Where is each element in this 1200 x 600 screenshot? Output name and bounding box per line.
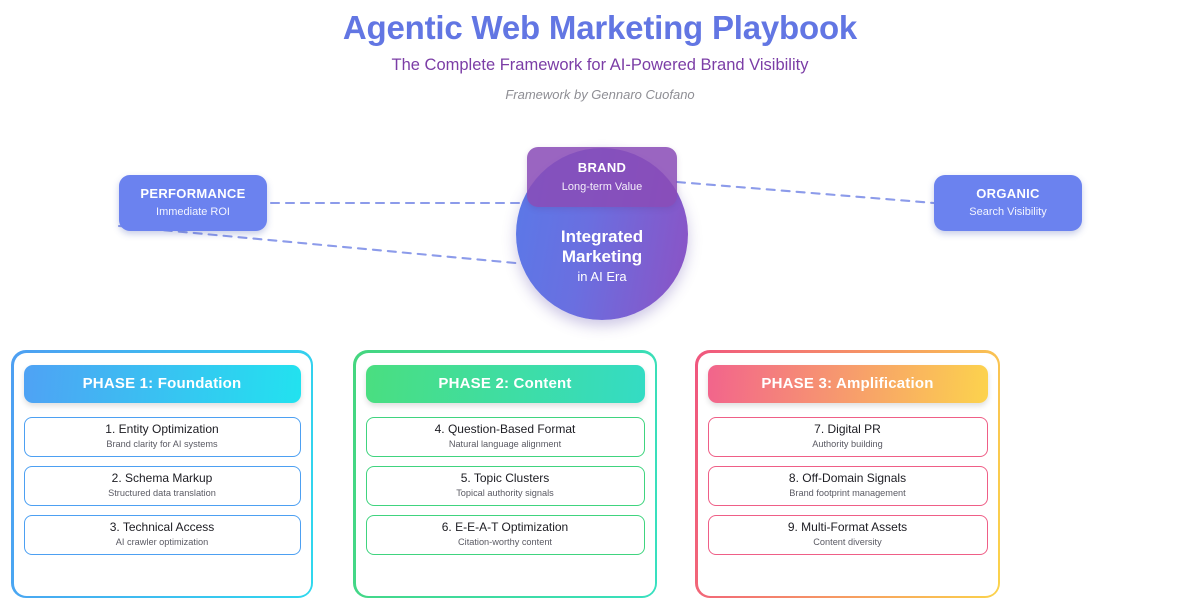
phase-2-item-3-subtitle: Citation-worthy content (458, 535, 552, 549)
page-header: Agentic Web Marketing Playbook The Compl… (0, 0, 1200, 103)
phase-2-item-1-title: 4. Question-Based Format (435, 422, 576, 437)
phase-3-item-3-title: 9. Multi-Format Assets (788, 520, 907, 535)
phase-3-item-3[interactable]: 9. Multi-Format Assets Content diversity (708, 515, 988, 555)
integrated-marketing-subtitle: in AI Era (577, 267, 626, 286)
phase-1-item-2-subtitle: Structured data translation (108, 486, 216, 500)
phase-3-item-2-title: 8. Off-Domain Signals (789, 471, 906, 486)
phase-2-item-1-subtitle: Natural language alignment (449, 437, 561, 451)
node-organic-title: ORGANIC (976, 186, 1040, 202)
phase-2-header: PHASE 2: Content (366, 365, 645, 403)
phase-1-header: PHASE 1: Foundation (24, 365, 301, 403)
phase-1-item-2[interactable]: 2. Schema Markup Structured data transla… (24, 466, 301, 506)
node-organic-subtitle: Search Visibility (969, 202, 1046, 219)
page-byline: Framework by Gennaro Cuofano (0, 75, 1200, 103)
phase-1-item-1[interactable]: 1. Entity Optimization Brand clarity for… (24, 417, 301, 457)
page-title: Agentic Web Marketing Playbook (0, 0, 1200, 48)
phase-2-item-3[interactable]: 6. E-E-A-T Optimization Citation-worthy … (366, 515, 645, 555)
phase-column-1: PHASE 1: Foundation 1. Entity Optimizati… (11, 350, 313, 598)
node-brand-title: BRAND (578, 160, 626, 176)
phase-1-item-3-subtitle: AI crawler optimization (116, 535, 208, 549)
connector-performance-circle (119, 226, 526, 264)
phase-3-item-1[interactable]: 7. Digital PR Authority building (708, 417, 988, 457)
phase-1-item-1-title: 1. Entity Optimization (105, 422, 218, 437)
phase-3-item-1-subtitle: Authority building (812, 437, 882, 451)
node-brand[interactable]: BRAND Long-term Value (527, 147, 677, 207)
phase-2-item-2-title: 5. Topic Clusters (461, 471, 549, 486)
phase-1-header-label: PHASE 1: Foundation (83, 375, 242, 392)
node-performance-title: PERFORMANCE (140, 186, 245, 202)
phase-3-item-2[interactable]: 8. Off-Domain Signals Brand footprint ma… (708, 466, 988, 506)
phase-column-2: PHASE 2: Content 4. Question-Based Forma… (353, 350, 657, 598)
node-brand-subtitle: Long-term Value (562, 176, 643, 194)
integrated-marketing-title-line2: Marketing (562, 247, 642, 267)
integrated-marketing-title-line1: Integrated (561, 227, 643, 247)
phase-3-item-2-subtitle: Brand footprint management (789, 486, 905, 500)
phase-1-item-1-subtitle: Brand clarity for AI systems (106, 437, 217, 451)
phase-2-header-label: PHASE 2: Content (438, 375, 571, 392)
phase-1-item-2-title: 2. Schema Markup (112, 471, 213, 486)
phase-1-item-3[interactable]: 3. Technical Access AI crawler optimizat… (24, 515, 301, 555)
node-organic[interactable]: ORGANIC Search Visibility (934, 175, 1082, 231)
node-performance[interactable]: PERFORMANCE Immediate ROI (119, 175, 267, 231)
page-subtitle: The Complete Framework for AI-Powered Br… (0, 48, 1200, 76)
phase-2-item-2-subtitle: Topical authority signals (456, 486, 554, 500)
integrated-marketing-diagram: PERFORMANCE Immediate ROI ORGANIC Search… (0, 130, 1200, 345)
phase-3-header-label: PHASE 3: Amplification (761, 375, 933, 392)
phase-3-item-1-title: 7. Digital PR (814, 422, 881, 437)
phase-column-3: PHASE 3: Amplification 7. Digital PR Aut… (695, 350, 1000, 598)
connector-brand-organic (677, 182, 934, 203)
phase-columns: PHASE 1: Foundation 1. Entity Optimizati… (0, 350, 1200, 600)
phase-2-item-2[interactable]: 5. Topic Clusters Topical authority sign… (366, 466, 645, 506)
node-performance-subtitle: Immediate ROI (156, 202, 230, 219)
phase-2-item-1[interactable]: 4. Question-Based Format Natural languag… (366, 417, 645, 457)
phase-3-item-3-subtitle: Content diversity (813, 535, 881, 549)
phase-3-header: PHASE 3: Amplification (708, 365, 988, 403)
phase-2-item-3-title: 6. E-E-A-T Optimization (442, 520, 568, 535)
phase-1-item-3-title: 3. Technical Access (110, 520, 215, 535)
